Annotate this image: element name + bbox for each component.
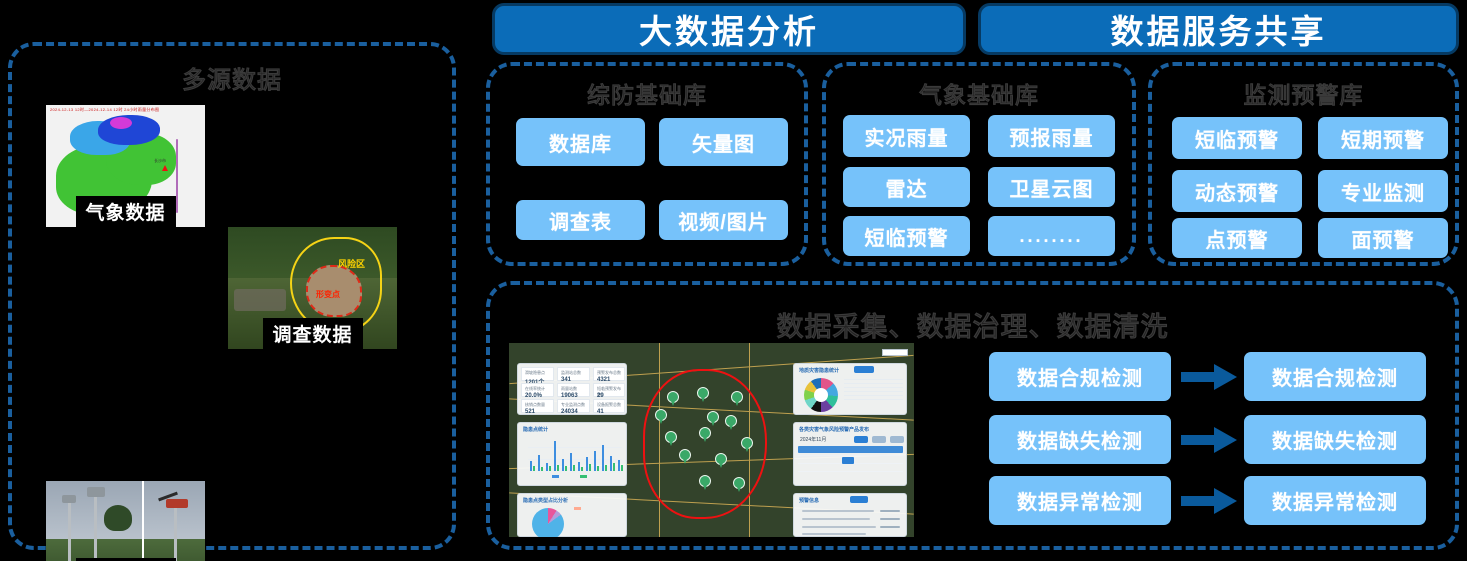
deform-point-tag: 形变点 [316, 289, 340, 300]
multi-source-data-title: 多源数据 [12, 60, 452, 95]
db-item-vector-map[interactable]: 矢量图 [659, 118, 788, 166]
dashboard-pie-chart-card[interactable]: 隐患点类型占比分析 [517, 493, 627, 537]
db-item-more-label: ........ [1019, 226, 1083, 247]
survey-data-image: 风险区 形变点 调查数据 [228, 227, 397, 349]
db-panel-monitoring-warning-title: 监测预警库 [1152, 76, 1455, 110]
check-target-compliance[interactable]: 数据合规检测 [1244, 352, 1426, 401]
risk-zone-tag: 风险区 [338, 257, 365, 270]
db-item-satellite-cloud-label: 卫星云图 [1010, 173, 1094, 202]
dashboard-stats-card[interactable]: 滑坡隐患点1201个 监测站总数341 预警发布总数4321 在线率统计20.0… [517, 363, 627, 415]
dashboard-news-card[interactable]: 预警信息 [793, 493, 907, 537]
db-item-nowcast-warning-label: 短临预警 [865, 222, 949, 251]
dashboard-calendar-card[interactable]: 各类灾害气象风险预警产品发布 2024年11月 [793, 422, 907, 486]
db-item-video-image[interactable]: 视频/图片 [659, 200, 788, 240]
header-data-service-sharing-label: 数据服务共享 [1111, 5, 1327, 53]
db-item-survey-form-label: 调查表 [549, 206, 612, 235]
db-item-live-rainfall-label: 实况雨量 [865, 122, 949, 151]
check-source-compliance-label: 数据合规检测 [1017, 362, 1143, 391]
warn-item-point[interactable]: 点预警 [1172, 218, 1302, 258]
check-target-anomaly[interactable]: 数据异常检测 [1244, 476, 1426, 525]
warn-item-short-term-label: 短期预警 [1341, 124, 1425, 153]
db-item-vector-map-label: 矢量图 [692, 128, 755, 157]
header-data-service-sharing[interactable]: 数据服务共享 [978, 3, 1459, 55]
check-source-compliance[interactable]: 数据合规检测 [989, 352, 1171, 401]
db-item-satellite-cloud[interactable]: 卫星云图 [988, 167, 1115, 207]
check-target-compliance-label: 数据合规检测 [1272, 362, 1398, 391]
check-source-missing[interactable]: 数据缺失检测 [989, 415, 1171, 464]
dashboard-donut-card[interactable]: 地质灾害隐患统计 [793, 363, 907, 415]
weather-data-label: 气象数据 [75, 196, 175, 227]
db-item-nowcast-warning[interactable]: 短临预警 [843, 216, 970, 256]
warn-item-dynamic[interactable]: 动态预警 [1172, 170, 1302, 212]
db-panel-comprehensive-prevention-title: 综防基础库 [490, 76, 804, 110]
warn-item-nowcast-label: 短临预警 [1195, 124, 1279, 153]
db-item-database[interactable]: 数据库 [516, 118, 645, 166]
db-item-more[interactable]: ........ [988, 216, 1115, 256]
arrow-anomaly-icon [1181, 488, 1237, 514]
db-panel-meteorological-title: 气象基础库 [826, 76, 1132, 110]
arrow-compliance-icon [1181, 364, 1237, 390]
warn-item-area-label: 面预警 [1352, 224, 1415, 253]
header-big-data-analysis[interactable]: 大数据分析 [492, 3, 966, 55]
monitoring-data-image: 监测数据 [46, 481, 205, 561]
warn-item-professional-monitoring[interactable]: 专业监测 [1318, 170, 1448, 212]
diagram-canvas: 多源数据 2024-12-13 12时—2024-12-14 12时 24小时雨… [0, 0, 1467, 561]
db-item-radar-label: 雷达 [886, 173, 928, 202]
warn-item-point-label: 点预警 [1206, 224, 1269, 253]
warn-item-professional-monitoring-label: 专业监测 [1341, 177, 1425, 206]
warn-item-nowcast[interactable]: 短临预警 [1172, 117, 1302, 159]
warn-item-short-term[interactable]: 短期预警 [1318, 117, 1448, 159]
check-source-anomaly[interactable]: 数据异常检测 [989, 476, 1171, 525]
db-item-video-image-label: 视频/图片 [678, 206, 769, 235]
db-item-survey-form[interactable]: 调查表 [516, 200, 645, 240]
weather-data-image: 2024-12-13 12时—2024-12-14 12时 24小时雨量分布图 … [46, 105, 205, 227]
weather-map-caption: 2024-12-13 12时—2024-12-14 12时 24小时雨量分布图 [50, 107, 159, 113]
dashboard-bar-chart-card[interactable]: 隐患点统计 [517, 422, 627, 486]
db-item-live-rainfall[interactable]: 实况雨量 [843, 115, 970, 157]
check-target-missing-label: 数据缺失检测 [1272, 425, 1398, 454]
check-target-missing[interactable]: 数据缺失检测 [1244, 415, 1426, 464]
header-big-data-analysis-label: 大数据分析 [639, 5, 819, 53]
arrow-missing-icon [1181, 427, 1237, 453]
survey-data-label: 调查数据 [262, 318, 362, 349]
check-source-anomaly-label: 数据异常检测 [1017, 486, 1143, 515]
db-item-radar[interactable]: 雷达 [843, 167, 970, 207]
warn-item-area[interactable]: 面预警 [1318, 218, 1448, 258]
warn-item-dynamic-label: 动态预警 [1195, 177, 1279, 206]
data-processing-title: 数据采集、数据治理、数据清洗 [490, 305, 1455, 344]
check-target-anomaly-label: 数据异常检测 [1272, 486, 1398, 515]
db-item-forecast-rainfall-label: 预报雨量 [1010, 122, 1094, 151]
db-item-forecast-rainfall[interactable]: 预报雨量 [988, 115, 1115, 157]
check-source-missing-label: 数据缺失检测 [1017, 425, 1143, 454]
platform-dashboard-screenshot[interactable]: 滑坡隐患点1201个 监测站总数341 预警发布总数4321 在线率统计20.0… [509, 343, 914, 537]
db-item-database-label: 数据库 [549, 128, 612, 157]
